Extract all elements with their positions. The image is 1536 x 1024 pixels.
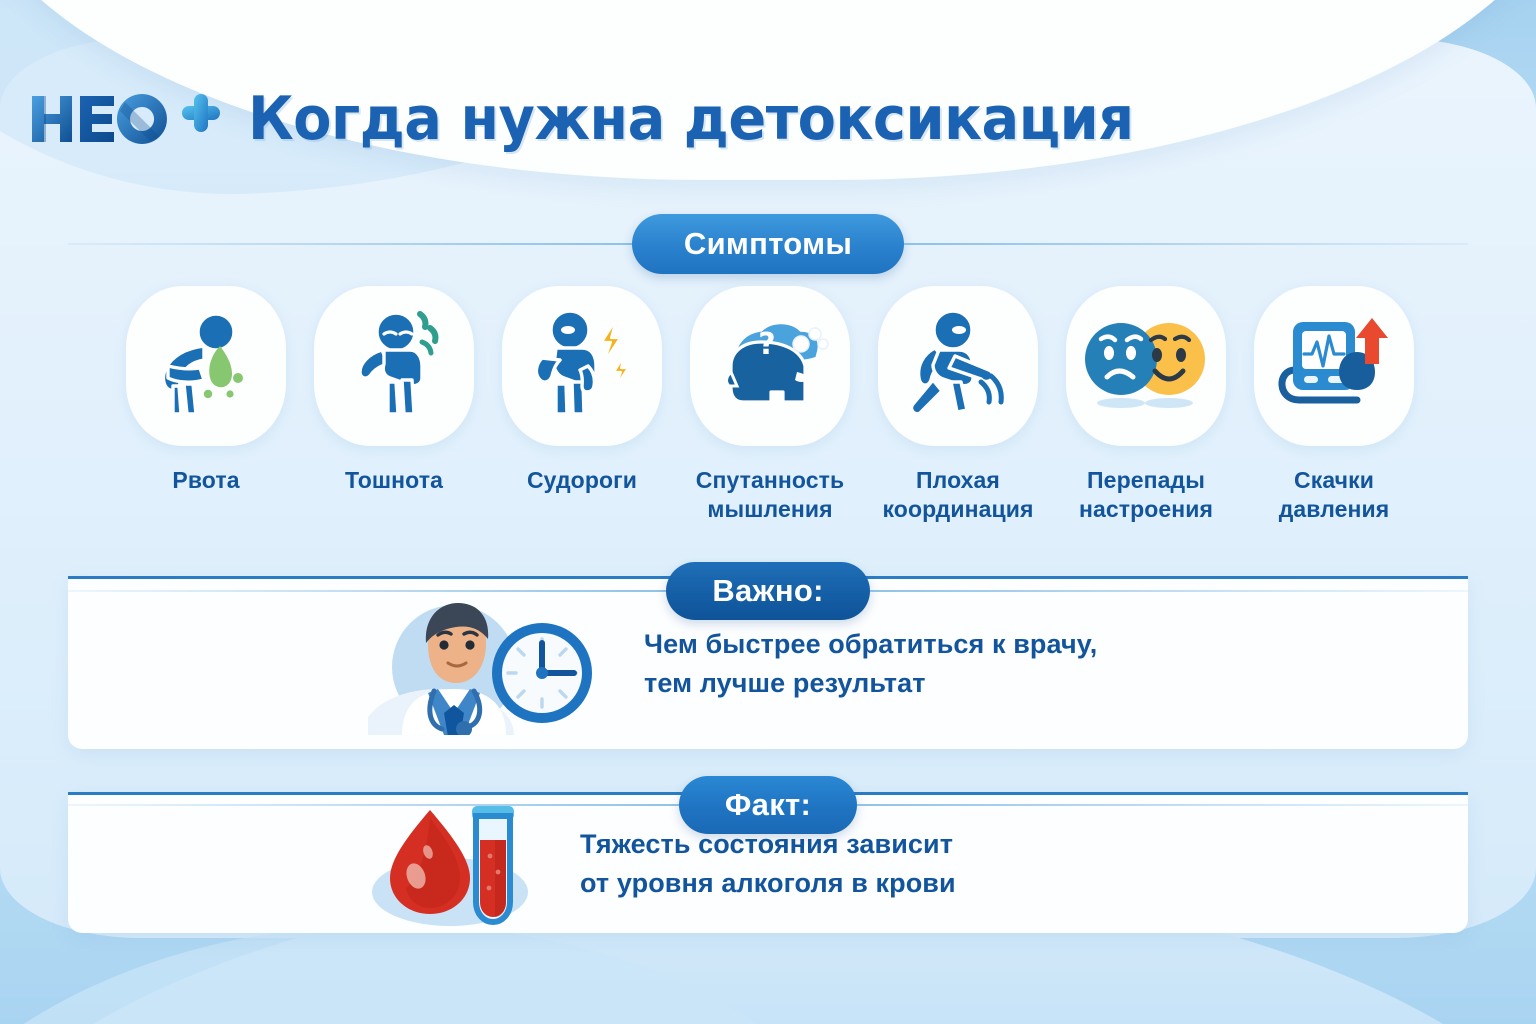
- symptom-item[interactable]: Перепады настроения: [1060, 286, 1232, 524]
- vomiting-icon: [146, 306, 266, 427]
- divider-right: [904, 243, 1468, 245]
- page-title: Когда нужна детоксикация: [248, 84, 1134, 154]
- symptom-icon-tile: [502, 286, 662, 446]
- symptom-icon-tile: [1066, 286, 1226, 446]
- fact-badge-row: Факт:: [0, 776, 1536, 834]
- important-badge: Важно:: [666, 562, 869, 620]
- symptom-icon-tile: [126, 286, 286, 446]
- poor-coordination-icon: [897, 306, 1019, 427]
- symptom-item[interactable]: Судороги: [496, 286, 668, 495]
- confusion-icon: ?: [709, 306, 831, 427]
- symptom-label: Скачки давления: [1248, 466, 1420, 524]
- mood-swings-icon: [1083, 309, 1209, 424]
- important-text-line-2: тем лучше результат: [644, 664, 1097, 703]
- divider-right: [870, 590, 1468, 592]
- divider-left: [68, 590, 666, 592]
- symptom-label: Тошнота: [345, 466, 443, 495]
- symptom-item[interactable]: Плохая координация: [872, 286, 1044, 524]
- divider-right: [857, 804, 1468, 806]
- fact-text-line-2: от уровня алкоголя в крови: [580, 864, 956, 903]
- symptom-label: Судороги: [527, 466, 637, 495]
- symptoms-list: Рвота: [120, 286, 1420, 524]
- nausea-icon: [334, 306, 454, 427]
- divider-left: [68, 804, 679, 806]
- symptom-icon-tile: [314, 286, 474, 446]
- neo-plus-logo[interactable]: [30, 91, 226, 147]
- symptoms-badge: Симптомы: [632, 214, 904, 274]
- svg-text:?: ?: [758, 327, 775, 362]
- symptom-label: Спутанность мышления: [684, 466, 856, 524]
- symptom-label: Плохая координация: [872, 466, 1044, 524]
- symptoms-badge-row: Симптомы: [0, 214, 1536, 274]
- symptom-label: Перепады настроения: [1060, 466, 1232, 524]
- blood-pressure-icon: [1273, 308, 1395, 425]
- symptom-item[interactable]: Тошнота: [308, 286, 480, 495]
- fact-badge: Факт:: [679, 776, 857, 834]
- symptom-label: Рвота: [172, 466, 239, 495]
- important-text-line-1: Чем быстрее обратиться к врачу,: [644, 625, 1097, 664]
- symptom-item[interactable]: ? Спутанность мышления: [684, 286, 856, 524]
- symptom-icon-tile: [1254, 286, 1414, 446]
- symptom-item[interactable]: Рвота: [120, 286, 292, 495]
- important-badge-row: Важно:: [0, 562, 1536, 620]
- infographic-canvas: Когда нужна детоксикация Симптомы: [0, 0, 1536, 1024]
- cramps-icon: [522, 306, 642, 427]
- divider-left: [68, 243, 632, 245]
- symptom-icon-tile: ?: [690, 286, 850, 446]
- header: Когда нужна детоксикация: [0, 0, 1536, 190]
- symptom-icon-tile: [878, 286, 1038, 446]
- symptom-item[interactable]: Скачки давления: [1248, 286, 1420, 524]
